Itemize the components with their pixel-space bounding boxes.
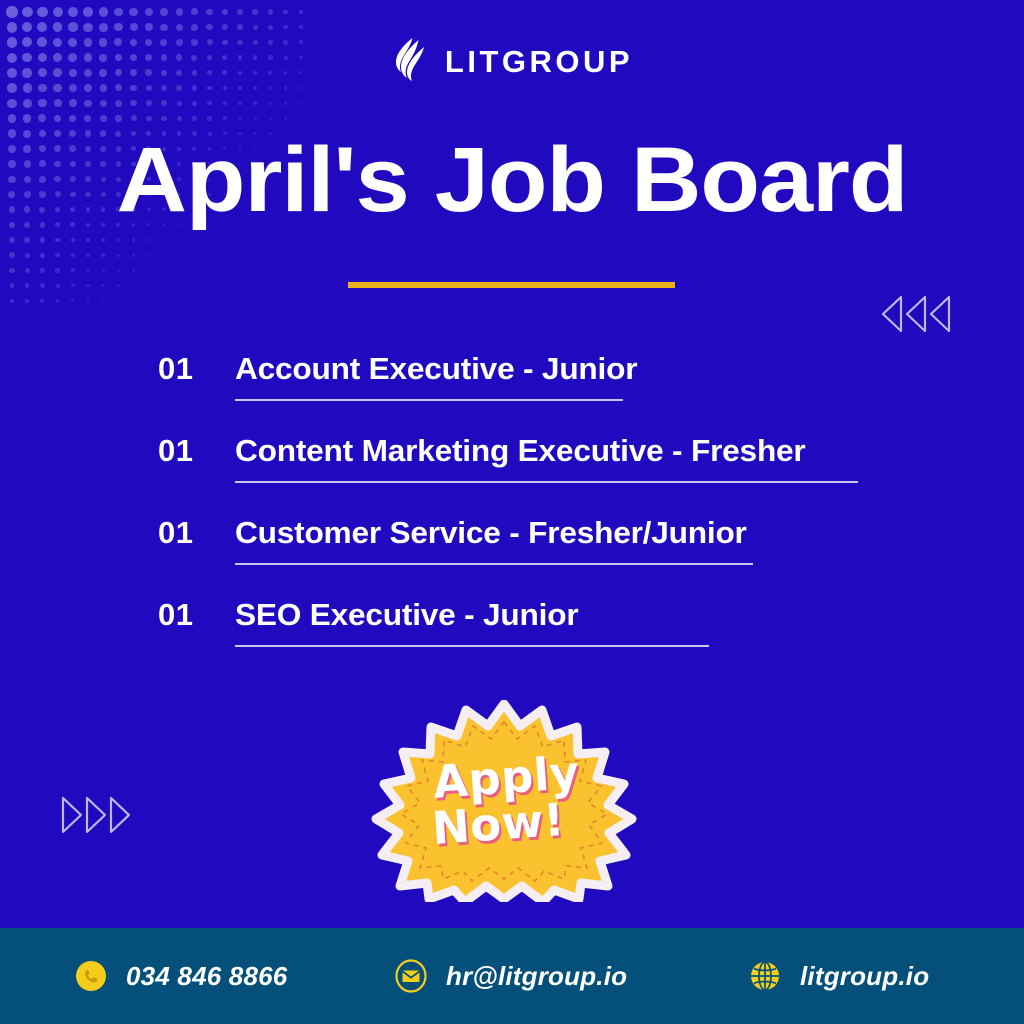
- halftone-dot: [114, 8, 123, 17]
- halftone-dot: [101, 238, 105, 242]
- halftone-dot: [145, 23, 153, 31]
- halftone-dot: [223, 116, 227, 120]
- job-title: Customer Service - Fresher/Junior: [235, 512, 763, 554]
- halftone-dot: [7, 83, 16, 92]
- apply-now-badge[interactable]: Apply Now!: [368, 700, 640, 902]
- halftone-dot: [7, 22, 18, 33]
- contact-footer: 034 846 8866 hr@litgroup.io: [0, 928, 1024, 1024]
- halftone-dot: [237, 24, 243, 30]
- halftone-dot: [86, 253, 90, 257]
- halftone-dot: [163, 300, 164, 301]
- halftone-dot: [146, 116, 152, 122]
- halftone-dot: [71, 299, 74, 302]
- halftone-dot: [53, 84, 61, 92]
- halftone-dot: [24, 237, 30, 243]
- halftone-dot: [37, 22, 47, 32]
- halftone-dot: [25, 299, 29, 303]
- brand-logo: LITGROUP: [0, 38, 1024, 84]
- halftone-dot: [299, 87, 302, 90]
- halftone-dot: [178, 270, 179, 271]
- halftone-dot: [9, 252, 15, 258]
- halftone-dot: [117, 238, 121, 242]
- halftone-dot: [101, 253, 105, 257]
- halftone-dot: [283, 25, 288, 30]
- job-count: 01: [158, 430, 235, 472]
- halftone-dot: [178, 239, 180, 241]
- halftone-dot: [207, 116, 211, 120]
- halftone-dot: [38, 84, 47, 93]
- halftone-dot: [223, 101, 227, 105]
- job-title-underline: [235, 645, 709, 647]
- job-list-item[interactable]: 01Customer Service - Fresher/Junior: [0, 512, 1024, 594]
- halftone-dot: [40, 268, 45, 273]
- halftone-dot: [23, 114, 31, 122]
- halftone-dot: [117, 284, 120, 287]
- halftone-dot: [253, 25, 258, 30]
- halftone-dot: [206, 9, 213, 16]
- halftone-dot: [6, 6, 17, 17]
- halftone-dot: [269, 117, 272, 120]
- halftone-dot: [148, 285, 150, 287]
- halftone-dot: [161, 85, 167, 91]
- halftone-dot: [252, 9, 258, 15]
- halftone-dot: [161, 116, 166, 121]
- halftone-dot: [100, 115, 107, 122]
- halftone-dot: [193, 239, 195, 241]
- halftone-dot: [22, 22, 33, 33]
- halftone-dot: [86, 269, 90, 273]
- halftone-dot: [207, 101, 212, 106]
- job-title: Content Marketing Executive - Fresher: [235, 430, 870, 472]
- job-count: 01: [158, 594, 235, 636]
- halftone-dot: [84, 115, 91, 122]
- halftone-dot: [148, 269, 150, 271]
- halftone-dot: [71, 253, 75, 257]
- halftone-dot: [102, 284, 105, 287]
- envelope-icon: [394, 959, 428, 993]
- brand-name: LITGROUP: [445, 46, 633, 77]
- halftone-dot: [25, 283, 30, 288]
- job-title: Account Executive - Junior: [235, 348, 637, 390]
- halftone-dot: [25, 253, 30, 258]
- title-underline-rule: [348, 282, 675, 288]
- halftone-dot: [38, 114, 46, 122]
- halftone-dot: [194, 270, 195, 271]
- halftone-dot: [176, 85, 182, 91]
- halftone-dot: [56, 299, 60, 303]
- halftone-dot: [163, 269, 165, 271]
- halftone-dot: [268, 25, 273, 30]
- halftone-dot: [53, 22, 63, 32]
- page-title: April's Job Board: [0, 134, 1024, 228]
- job-count: 01: [158, 512, 235, 554]
- halftone-dot: [68, 7, 78, 17]
- halftone-dot: [224, 239, 225, 240]
- halftone-dot: [25, 268, 30, 273]
- halftone-dot: [130, 85, 137, 92]
- triple-right-chevron-icon: [60, 793, 134, 842]
- contact-website[interactable]: litgroup.io: [748, 959, 929, 993]
- halftone-dot: [191, 8, 198, 15]
- halftone-dot: [176, 8, 183, 15]
- halftone-dot: [238, 86, 242, 90]
- contact-website-text: litgroup.io: [800, 961, 929, 992]
- halftone-dot: [71, 238, 76, 243]
- job-board-poster: LITGROUP April's Job Board 01Account Exe…: [0, 0, 1024, 1024]
- halftone-dot: [23, 83, 32, 92]
- halftone-dot: [299, 10, 304, 15]
- halftone-dot: [238, 101, 242, 105]
- contact-phone[interactable]: 034 846 8866: [74, 959, 287, 993]
- halftone-dot: [253, 101, 257, 105]
- job-title-underline: [235, 563, 753, 565]
- halftone-dot: [102, 300, 105, 303]
- halftone-dot: [55, 238, 60, 243]
- halftone-dot: [146, 85, 152, 91]
- halftone-dot: [133, 300, 135, 302]
- halftone-dot: [300, 102, 303, 105]
- halftone-dot: [40, 253, 45, 258]
- halftone-dot: [87, 299, 90, 302]
- halftone-dot: [83, 23, 92, 32]
- halftone-dot: [192, 101, 197, 106]
- halftone-dot: [115, 84, 122, 91]
- halftone-dot: [160, 8, 168, 16]
- halftone-dot: [207, 86, 212, 91]
- halftone-dot: [69, 84, 77, 92]
- contact-email-text: hr@litgroup.io: [446, 961, 627, 992]
- halftone-dot: [71, 268, 75, 272]
- job-list: 01Account Executive - Junior01Content Ma…: [0, 348, 1024, 676]
- halftone-dot: [161, 100, 167, 106]
- job-list-item[interactable]: 01Account Executive - Junior: [0, 348, 1024, 430]
- halftone-dot: [133, 285, 135, 287]
- halftone-dot: [10, 299, 15, 304]
- halftone-dot: [163, 239, 166, 242]
- halftone-dot: [68, 22, 77, 31]
- job-count: 01: [158, 348, 235, 390]
- halftone-dot: [23, 99, 32, 108]
- halftone-dot: [7, 99, 16, 108]
- halftone-dot: [269, 102, 272, 105]
- halftone-dot: [100, 84, 107, 91]
- halftone-dot: [117, 254, 120, 257]
- halftone-dot: [53, 7, 63, 17]
- halftone-dot: [284, 117, 287, 120]
- job-title-underline: [235, 399, 623, 401]
- halftone-dot: [148, 300, 149, 301]
- halftone-dot: [114, 23, 122, 31]
- halftone-dot: [84, 100, 91, 107]
- halftone-dot: [9, 237, 15, 243]
- halftone-dot: [130, 100, 136, 106]
- halftone-dot: [100, 100, 107, 107]
- halftone-dot: [9, 268, 14, 273]
- halftone-dot: [86, 238, 90, 242]
- halftone-dot: [179, 285, 180, 286]
- halftone-dot: [284, 102, 287, 105]
- halftone-dot: [130, 23, 138, 31]
- halftone-dot: [71, 284, 75, 288]
- halftone-dot: [222, 24, 228, 30]
- halftone-dot: [222, 9, 228, 15]
- job-list-item[interactable]: 01SEO Executive - Junior: [0, 594, 1024, 676]
- halftone-dot: [132, 238, 135, 241]
- halftone-dot: [131, 115, 137, 121]
- halftone-dot: [192, 116, 197, 121]
- halftone-dot: [54, 99, 62, 107]
- job-title-underline: [235, 481, 858, 483]
- halftone-dot: [102, 269, 105, 272]
- halftone-dot: [54, 115, 62, 123]
- halftone-dot: [132, 269, 135, 272]
- halftone-dot: [206, 24, 212, 30]
- contact-phone-text: 034 846 8866: [126, 961, 287, 992]
- halftone-dot: [40, 237, 45, 242]
- halftone-dot: [86, 284, 89, 287]
- halftone-dot: [237, 9, 243, 15]
- halftone-dot: [22, 7, 33, 18]
- halftone-dot: [117, 269, 120, 272]
- halftone-dot: [299, 25, 303, 29]
- halftone-dot: [177, 101, 182, 106]
- halftone-dot: [283, 10, 288, 15]
- halftone-dot: [99, 23, 108, 32]
- halftone-dot: [253, 86, 257, 90]
- halftone-dot: [209, 239, 210, 240]
- flame-icon: [391, 38, 431, 84]
- halftone-dot: [148, 254, 151, 257]
- halftone-dot: [99, 7, 108, 16]
- halftone-dot: [56, 284, 60, 288]
- halftone-dot: [55, 268, 59, 272]
- halftone-dot: [209, 255, 210, 256]
- halftone-dot: [115, 100, 122, 107]
- halftone-dot: [83, 7, 92, 16]
- halftone-dot: [268, 9, 273, 14]
- halftone-dot: [163, 285, 164, 286]
- contact-email[interactable]: hr@litgroup.io: [394, 959, 627, 993]
- job-title: SEO Executive - Junior: [235, 594, 718, 636]
- halftone-dot: [8, 114, 17, 123]
- halftone-dot: [146, 100, 152, 106]
- job-list-item[interactable]: 01Content Marketing Executive - Fresher: [0, 430, 1024, 512]
- halftone-dot: [129, 8, 137, 16]
- halftone-dot: [284, 86, 287, 89]
- halftone-dot: [194, 254, 195, 255]
- halftone-dot: [192, 85, 197, 90]
- halftone-dot: [40, 299, 44, 303]
- halftone-dot: [191, 24, 198, 31]
- halftone-dot: [160, 24, 167, 31]
- halftone-dot: [176, 24, 183, 31]
- halftone-dot: [147, 239, 150, 242]
- halftone-dot: [117, 300, 119, 302]
- halftone-dot: [132, 254, 135, 257]
- halftone-dot: [163, 254, 165, 256]
- halftone-dot: [55, 253, 60, 258]
- halftone-dot: [115, 115, 121, 121]
- halftone-dot: [38, 99, 46, 107]
- halftone-dot: [37, 7, 48, 18]
- halftone-dot: [40, 283, 44, 287]
- halftone-dot: [84, 84, 92, 92]
- halftone-dot: [178, 254, 180, 256]
- halftone-dot: [69, 99, 77, 107]
- halftone-dot: [269, 86, 273, 90]
- halftone-dot: [177, 116, 182, 121]
- halftone-dot: [10, 283, 15, 288]
- phone-icon: [74, 959, 108, 993]
- halftone-dot: [238, 117, 242, 121]
- halftone-dot: [254, 117, 257, 120]
- halftone-dot: [223, 86, 228, 91]
- halftone-dot: [69, 115, 76, 122]
- triple-left-chevron-icon: [878, 292, 952, 341]
- halftone-dot: [300, 117, 302, 119]
- globe-icon: [748, 959, 782, 993]
- halftone-dot: [145, 8, 153, 16]
